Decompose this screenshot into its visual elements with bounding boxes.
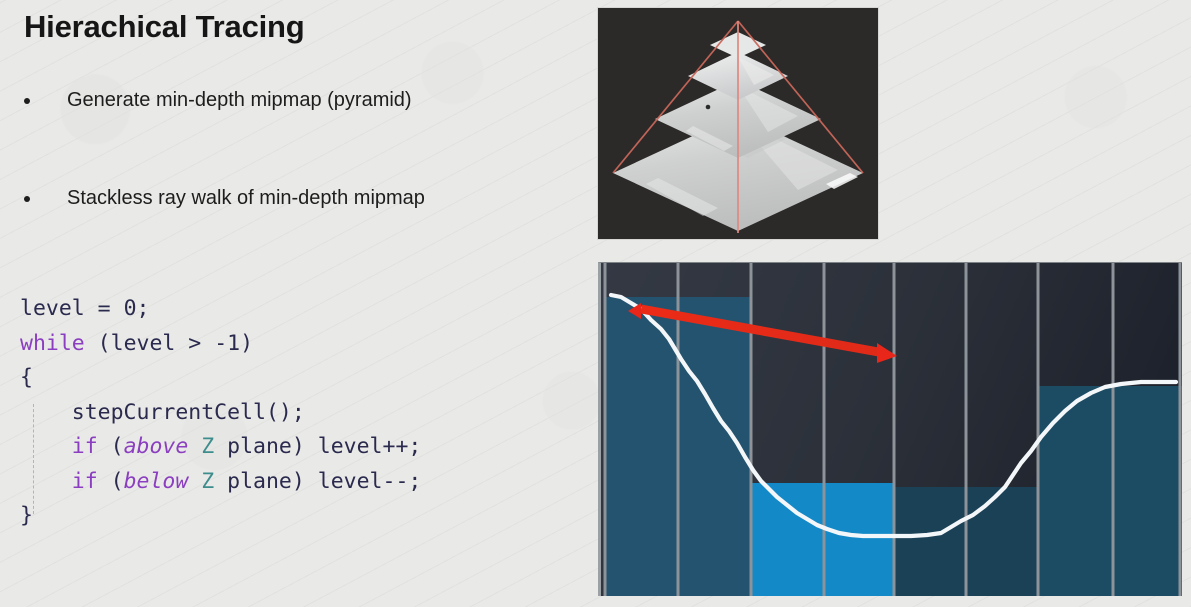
pyramid-illustration: [598, 8, 878, 239]
code-token: level: [305, 434, 383, 459]
bar-c5: [894, 487, 966, 596]
code-token: }: [20, 503, 33, 528]
code-line: }: [20, 499, 421, 534]
bar-c1: [604, 297, 678, 596]
code-line: while (level > -1): [20, 327, 421, 362]
code-token: level: [111, 331, 176, 356]
code-token: stepCurrentCell();: [20, 400, 305, 425]
code-line: if (below Z plane) level--;: [20, 465, 421, 500]
bullet-text: Stackless ray walk of min-depth mipmap: [67, 185, 425, 211]
code-token: below: [124, 469, 189, 494]
code-token: while: [20, 331, 85, 356]
chart-svg: [601, 263, 1182, 596]
code-token: 0: [124, 296, 137, 321]
bullet-text: Generate min-depth mipmap (pyramid): [67, 87, 412, 113]
code-token: (: [85, 331, 111, 356]
bullet-item: Generate min-depth mipmap (pyramid): [24, 87, 412, 113]
code-token: ): [292, 469, 305, 494]
bullet-dot-icon: [24, 196, 30, 202]
code-token: [20, 469, 72, 494]
code-token: if: [72, 469, 98, 494]
bar-c7: [1038, 386, 1113, 596]
code-token: above: [124, 434, 189, 459]
code-token: [20, 434, 72, 459]
slide-left-column: Hierachical Tracing Generate min-depth m…: [0, 0, 598, 607]
code-token: level: [20, 296, 85, 321]
code-line: stepCurrentCell();: [20, 396, 421, 431]
mipmap-pyramid-image: [598, 8, 878, 239]
code-token: plane: [214, 469, 292, 494]
code-token: [188, 469, 201, 494]
bar-c3: [751, 483, 824, 596]
code-block: level = 0;while (level > -1){ stepCurren…: [20, 292, 421, 534]
bar-c8: [1113, 386, 1182, 596]
code-token: (: [98, 434, 124, 459]
code-line: {: [20, 361, 421, 396]
page-title: Hierachical Tracing: [24, 9, 305, 45]
bar-c6: [966, 487, 1038, 596]
code-line: if (above Z plane) level++;: [20, 430, 421, 465]
code-token: [188, 434, 201, 459]
code-token: Z: [201, 434, 214, 459]
code-token: ++;: [383, 434, 422, 459]
code-token: >: [175, 331, 214, 356]
bullet-item: Stackless ray walk of min-depth mipmap: [24, 185, 425, 211]
code-token: ;: [137, 296, 150, 321]
code-token: ): [240, 331, 253, 356]
bullet-dot-icon: [24, 98, 30, 104]
code-token: --;: [383, 469, 422, 494]
code-token: {: [20, 365, 33, 390]
bar-c4: [824, 483, 894, 596]
code-token: Z: [201, 469, 214, 494]
code-token: ): [292, 434, 305, 459]
code-token: plane: [214, 434, 292, 459]
code-token: (: [98, 469, 124, 494]
code-token: -1: [214, 331, 240, 356]
code-token: level: [305, 469, 383, 494]
code-token: if: [72, 434, 98, 459]
code-line: level = 0;: [20, 292, 421, 327]
code-token: =: [85, 296, 124, 321]
min-depth-mipmap-chart: [598, 262, 1182, 596]
